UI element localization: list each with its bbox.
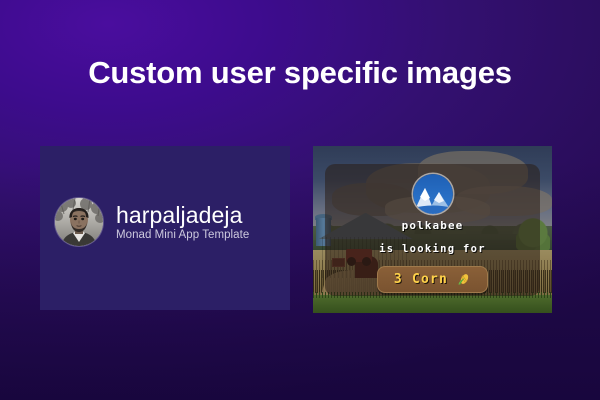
screenshot-stage: Custom user specific images <box>0 0 600 400</box>
profile-row: harpaljadeja Monad Mini App Template <box>55 198 249 246</box>
profile-subtitle: Monad Mini App Template <box>116 229 249 241</box>
mountain-avatar <box>413 174 453 214</box>
profile-username: harpaljadeja <box>116 203 249 227</box>
profile-card[interactable]: harpaljadeja Monad Mini App Template <box>40 146 290 310</box>
looking-for-label: is looking for <box>379 243 486 255</box>
corn-request-label: 3 Corn <box>394 272 448 287</box>
game-image-card[interactable]: polkabee is looking for 3 Corn <box>313 146 552 313</box>
game-overlay-panel: polkabee is looking for 3 Corn <box>325 164 540 296</box>
grass-strip <box>313 295 552 313</box>
user-photo-avatar <box>55 198 103 246</box>
corn-request-button[interactable]: 3 Corn <box>377 266 488 293</box>
page-title: Custom user specific images <box>0 55 600 91</box>
profile-text: harpaljadeja Monad Mini App Template <box>116 203 249 241</box>
corn-icon <box>456 272 471 287</box>
game-username: polkabee <box>402 219 464 232</box>
